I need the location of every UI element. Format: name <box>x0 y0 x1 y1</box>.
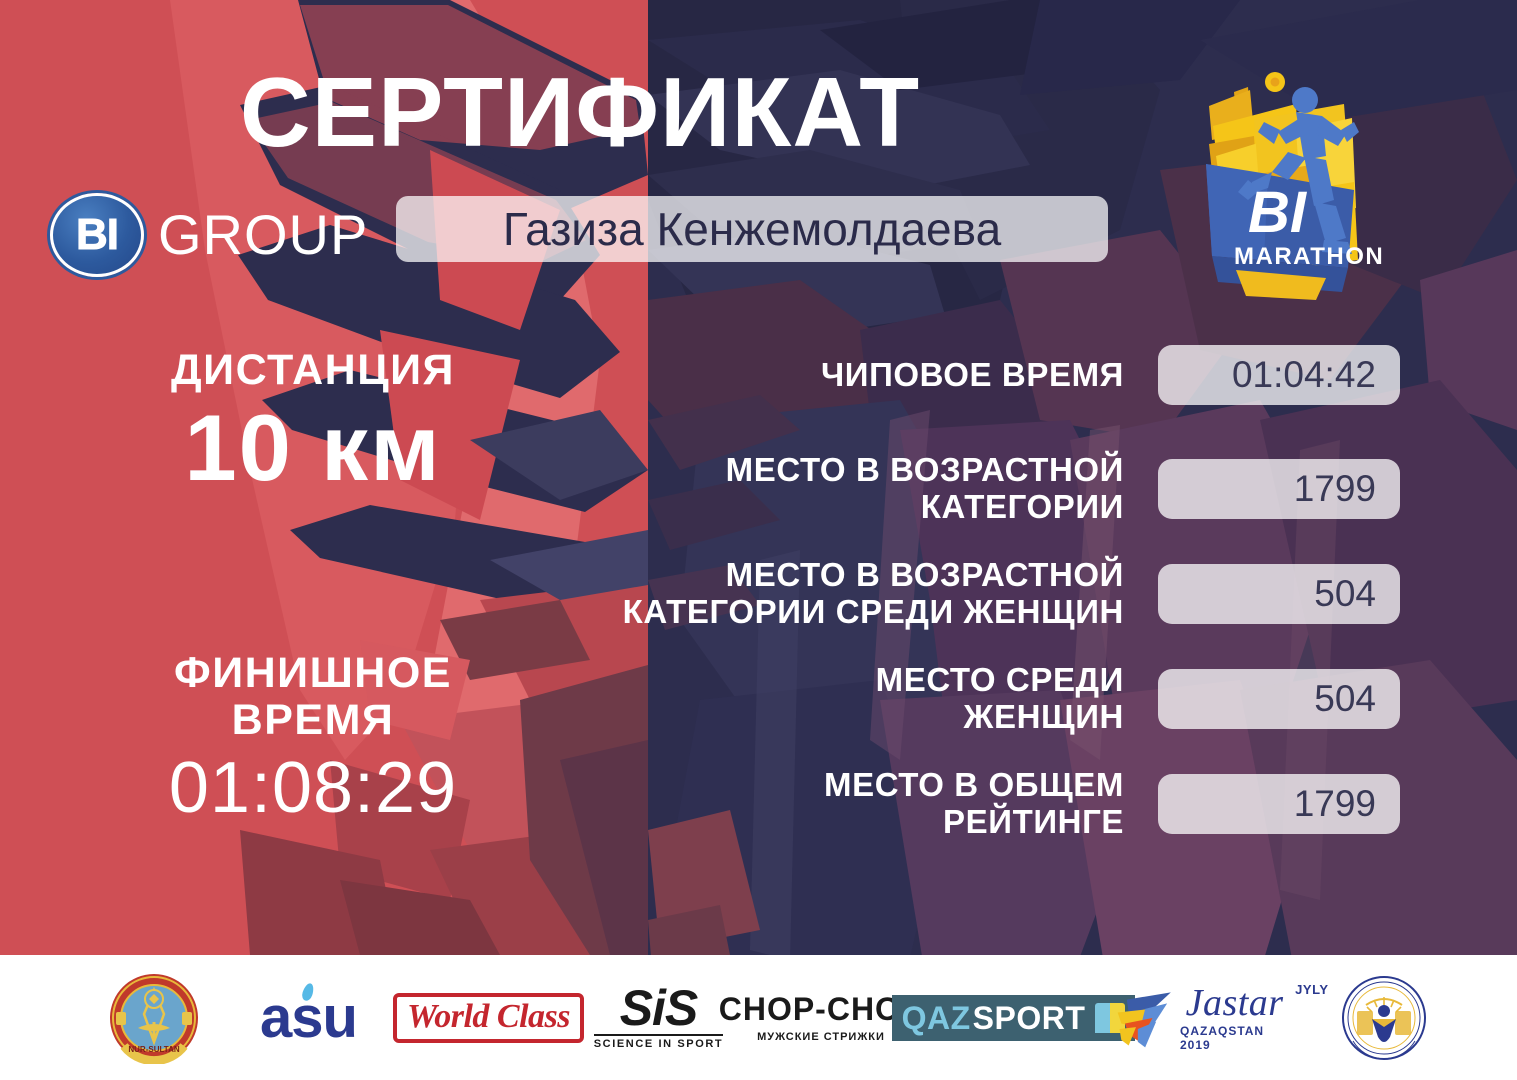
stat-value: 01:04:42 <box>1158 345 1400 405</box>
stat-label: МЕСТО В ВОЗРАСТНОЙ КАТЕГОРИИ <box>470 452 1158 526</box>
sis-tagline: SCIENCE IN SPORT <box>594 1034 724 1050</box>
qazsport-wordmark-qaz: QAZ <box>902 1002 971 1034</box>
stat-value: 504 <box>1158 564 1400 624</box>
stat-label: МЕСТО В ВОЗРАСТНОЙ КАТЕГОРИИ СРЕДИ ЖЕНЩИ… <box>470 557 1158 631</box>
stat-row: ЧИПОВОЕ ВРЕМЯ 01:04:42 <box>470 345 1400 405</box>
ministry-seal-icon <box>1341 975 1427 1061</box>
bi-roundel-label: BI <box>76 213 118 257</box>
bi-marathon-logo-icon: BI MARATHON <box>1176 60 1391 305</box>
bi-roundel-icon: BI <box>50 193 144 277</box>
stat-row: МЕСТО В ВОЗРАСТНОЙ КАТЕГОРИИ 1799 <box>470 452 1400 526</box>
distance-caption: ДИСТАНЦИЯ <box>98 348 528 393</box>
nur-sultan-coat-of-arms-icon: NUR-SULTAN <box>108 972 200 1064</box>
stat-row: МЕСТО В ОБЩЕМ РЕЙТИНГЕ 1799 <box>470 767 1400 841</box>
athlete-name-plate: Газиза Кенжемолдаева <box>396 196 1108 262</box>
world-class-wordmark: World Class <box>407 1000 570 1034</box>
certificate-canvas: СЕРТИФИКАТ BI GROUP Газиза Кенжемолдаева <box>0 0 1517 1080</box>
stat-value: 504 <box>1158 669 1400 729</box>
sponsor-ministry <box>1329 975 1439 1061</box>
stat-label: МЕСТО СРЕДИ ЖЕНЩИН <box>470 662 1158 736</box>
finish-time-value: 01:08:29 <box>98 749 528 828</box>
stat-row: МЕСТО В ВОЗРАСТНОЙ КАТЕГОРИИ СРЕДИ ЖЕНЩИ… <box>470 557 1400 631</box>
sponsor-nur-sultan: NUR-SULTAN <box>79 972 229 1064</box>
sponsor-jastar-jyly: Jastar QAZAQSTAN 2019 JYLY <box>1114 982 1329 1054</box>
stat-row: МЕСТО СРЕДИ ЖЕНЩИН 504 <box>470 662 1400 736</box>
athlete-name: Газиза Кенжемолдаева <box>503 206 1001 252</box>
qazsport-wordmark-sport: SPORT <box>973 1002 1086 1034</box>
svg-text:MARATHON: MARATHON <box>1234 243 1384 270</box>
jastar-subtitle: QAZAQSTAN 2019 <box>1180 1024 1289 1052</box>
certificate-title: СЕРТИФИКАТ <box>0 63 1160 161</box>
sponsor-chop-chop: CHOP-CHOP МУЖСКИЕ СТРИЖКИ <box>729 993 914 1043</box>
jastar-bird-icon <box>1114 982 1174 1054</box>
svg-text:BI: BI <box>1248 180 1308 245</box>
qazsport-logo-icon: QAZ SPORT <box>892 995 1136 1041</box>
jastar-jyly-badge: JYLY <box>1295 982 1328 997</box>
stat-label: МЕСТО В ОБЩЕМ РЕЙТИНГЕ <box>470 767 1158 841</box>
jastar-logo-icon: Jastar QAZAQSTAN 2019 JYLY <box>1114 982 1329 1054</box>
sis-logo-icon: SiS SCIENCE IN SPORT <box>594 985 724 1050</box>
finish-time-caption: ФИНИШНОЕ ВРЕМЯ <box>98 650 528 745</box>
distance-block: ДИСТАНЦИЯ 10 км <box>98 348 528 498</box>
jastar-wordmark: Jastar <box>1186 984 1284 1022</box>
stat-value: 1799 <box>1158 774 1400 834</box>
sponsor-footer: NUR-SULTAN asu World Class SiS SCIENCE I… <box>0 955 1517 1080</box>
finish-time-block: ФИНИШНОЕ ВРЕМЯ 01:08:29 <box>98 650 528 828</box>
stat-value: 1799 <box>1158 459 1400 519</box>
sponsor-qazsport: QAZ SPORT <box>914 995 1114 1041</box>
sponsor-sis: SiS SCIENCE IN SPORT <box>589 985 729 1050</box>
bi-group-logo: BI GROUP <box>50 193 368 277</box>
stat-label: ЧИПОВОЕ ВРЕМЯ <box>470 357 1158 394</box>
world-class-logo-icon: World Class <box>393 993 584 1043</box>
distance-value: 10 км <box>98 399 528 498</box>
bi-group-wordmark: GROUP <box>158 207 368 263</box>
nur-sultan-label: NUR-SULTAN <box>128 1045 179 1054</box>
jastar-text-block: Jastar QAZAQSTAN 2019 <box>1180 984 1289 1052</box>
sponsor-world-class: World Class <box>389 993 589 1043</box>
sponsor-asu: asu <box>229 989 389 1047</box>
asu-logo-icon: asu <box>260 989 357 1047</box>
sis-wordmark: SiS <box>594 985 724 1033</box>
